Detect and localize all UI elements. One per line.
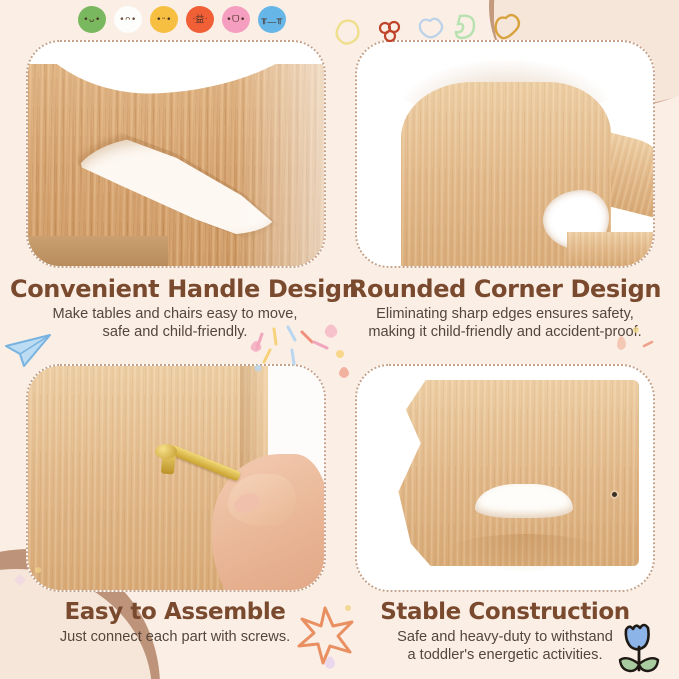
- panel-4-title: Stable Construction: [340, 600, 670, 626]
- emoji-pink-smile-face: •ᗜ•: [226, 16, 246, 25]
- emoji-green-neutral-face: •ᴗ•: [83, 16, 101, 25]
- panel-image-stable-construction: [357, 366, 653, 590]
- board-handle-cutout: [475, 484, 573, 518]
- panel-2-title: Rounded Corner Design: [340, 276, 670, 303]
- panel-3-subtitle: Just connect each part with screws.: [10, 629, 340, 647]
- panel-1-subtitle: Make tables and chairs easy to move, saf…: [10, 306, 340, 342]
- infographic-root: •ᴗ••ᴖ••ᵕ•ᐧ益ᐧ•ᗜ•╥﹏╥: [0, 0, 679, 679]
- feature-panel-rounded-corner: [355, 40, 655, 268]
- emoji-blue-sad: ╥﹏╥: [258, 6, 286, 33]
- screw-hole: [610, 490, 619, 499]
- emoji-decoration-strip: •ᴗ••ᴖ••ᵕ•ᐧ益ᐧ•ᗜ•╥﹏╥: [78, 6, 286, 33]
- emoji-pink-smile: •ᗜ•: [222, 6, 250, 33]
- chair-base-edge: [567, 232, 653, 266]
- caption-easy-assemble: Easy to Assemble Just connect each part …: [10, 600, 340, 647]
- lighting-fade: [234, 62, 324, 266]
- doodle-flower-red-icon: [380, 22, 399, 41]
- feature-panel-stable-construction: [355, 364, 655, 592]
- emoji-white-worried-face: •ᴖ•: [119, 16, 137, 25]
- panel-3-title: Easy to Assemble: [10, 600, 340, 626]
- doodle-leaf-green-icon: [456, 16, 474, 38]
- doodle-blob-yellow-icon: [337, 21, 359, 44]
- emoji-yellow-happy-face: •ᵕ•: [156, 16, 172, 25]
- feature-panel-handle-design: [26, 40, 326, 268]
- emoji-white-worried: •ᴖ•: [114, 6, 142, 33]
- emoji-blue-sad-face: ╥﹏╥: [261, 16, 282, 25]
- emoji-orange-angry-face: ᐧ益ᐧ: [192, 16, 207, 25]
- emoji-orange-angry: ᐧ益ᐧ: [186, 6, 214, 33]
- board-drop-shadow: [445, 534, 605, 572]
- panel-image-handle-design: [28, 42, 324, 266]
- panel-image-easy-assemble: [28, 366, 324, 590]
- caption-rounded-corner: Rounded Corner Design Eliminating sharp …: [340, 276, 670, 341]
- caption-stable-construction: Stable Construction Safe and heavy-duty …: [340, 600, 670, 664]
- panel-2-subtitle: Eliminating sharp edges ensures safety, …: [340, 306, 670, 342]
- panel-4-subtitle: Safe and heavy-duty to withstand a toddl…: [340, 629, 670, 665]
- screw-head: [155, 444, 177, 459]
- doodle-heart-blue-icon: [420, 19, 442, 38]
- doodle-decoration-group: [320, 8, 570, 48]
- caption-handle-design: Convenient Handle Design Make tables and…: [10, 276, 340, 341]
- doodle-heart-gold-icon: [496, 15, 519, 38]
- panel-image-rounded-corner: [357, 42, 653, 266]
- feature-panel-easy-assemble: [26, 364, 326, 592]
- panel-1-title: Convenient Handle Design: [10, 276, 340, 303]
- emoji-yellow-happy: •ᵕ•: [150, 6, 178, 33]
- floor-strip: [28, 236, 168, 266]
- emoji-green-neutral: •ᴗ•: [78, 6, 106, 33]
